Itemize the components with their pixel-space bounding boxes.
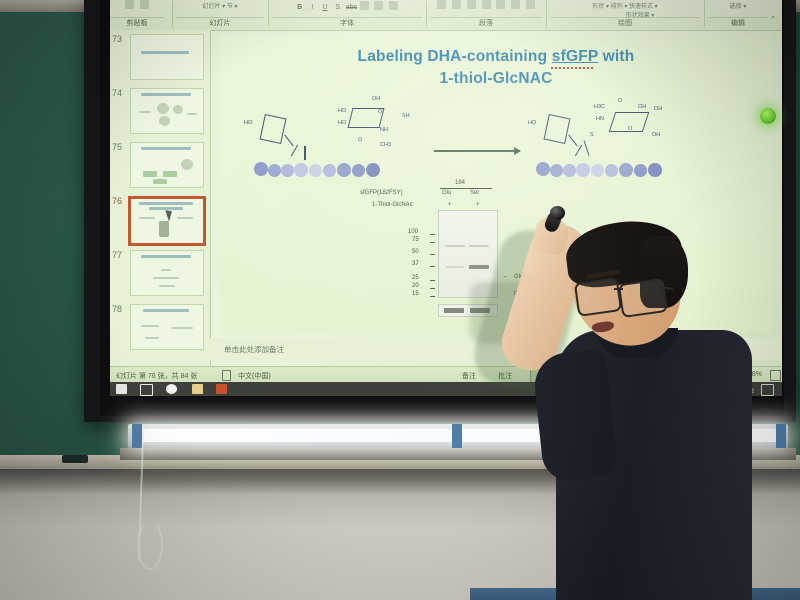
thumb-title-bar bbox=[139, 202, 193, 205]
phenol-ring bbox=[544, 114, 571, 144]
thumb-figure bbox=[159, 116, 170, 126]
band-arrow-icon: ← bbox=[502, 273, 509, 280]
light-clip bbox=[452, 424, 462, 448]
bold-button[interactable]: B bbox=[295, 0, 304, 17]
blot-membrane-his bbox=[438, 304, 498, 317]
ribbon-group-clipboard[interactable]: 剪贴板 bbox=[110, 0, 164, 30]
blot-band bbox=[444, 308, 464, 313]
title-part-c: with bbox=[598, 48, 634, 65]
blot-reagent-plus-1: + bbox=[448, 202, 452, 208]
select-button[interactable]: 选择 ▾ bbox=[708, 0, 768, 17]
reagent-sh: SH bbox=[402, 113, 410, 119]
product-oh-1: OH bbox=[638, 104, 646, 110]
mw-marker-100: 100 bbox=[408, 229, 660, 235]
bond bbox=[291, 145, 298, 157]
zoom-slider-track[interactable] bbox=[670, 375, 730, 377]
peptide-bead bbox=[366, 163, 380, 177]
convert-smartart-icon[interactable] bbox=[526, 0, 535, 9]
align-left-icon[interactable] bbox=[437, 0, 446, 9]
pyranose-ring bbox=[609, 112, 649, 132]
zoom-in-button[interactable]: + bbox=[734, 370, 739, 380]
thumb-title-bar bbox=[141, 51, 189, 54]
slide-editing-area[interactable]: Labeling DHA-containing sfGFP with 1-thi… bbox=[210, 30, 782, 338]
substrate-oh-label: HO bbox=[244, 120, 252, 126]
reaction-arrow bbox=[434, 150, 520, 152]
peptide-bead bbox=[550, 164, 563, 177]
alkene-bond bbox=[304, 146, 306, 160]
arrange-label[interactable]: 排列 ▾ bbox=[611, 4, 628, 10]
ribbon-group-paragraph-items[interactable] bbox=[430, 0, 542, 17]
status-language[interactable]: 中文(中国) bbox=[238, 371, 271, 381]
thumbnail-number-75: 75 bbox=[112, 142, 122, 152]
reagent-ho-2: HO bbox=[338, 120, 346, 126]
board-ledge bbox=[120, 448, 796, 460]
blot-header-rule bbox=[440, 188, 492, 189]
ppt-ribbon: 剪贴板 幻灯片 ▾ 节 ▾ 幻灯片 B I U S abc bbox=[110, 0, 782, 31]
thumbnail-number-76: 76 bbox=[112, 196, 122, 206]
thumb-line bbox=[153, 277, 179, 279]
comments-button[interactable]: 批注 bbox=[498, 371, 512, 381]
reagent-ho-1: HO bbox=[338, 108, 346, 114]
wall-shadow bbox=[0, 469, 800, 495]
reagent-ch3: CH3 bbox=[380, 142, 391, 148]
slide-title-line-2: 1-thiol-GlcNAC bbox=[220, 70, 772, 88]
ribbon-group-clipboard-label: 剪贴板 bbox=[110, 17, 164, 30]
bond bbox=[568, 135, 577, 147]
slide-thumbnail-75[interactable] bbox=[130, 142, 204, 188]
zoom-slider-handle[interactable] bbox=[710, 371, 713, 381]
light-clip bbox=[776, 424, 786, 448]
thumbnail-number-74: 74 bbox=[112, 88, 122, 98]
reagent-nh: NH bbox=[380, 127, 388, 133]
ribbon-group-font-label: 字体 bbox=[272, 17, 422, 30]
windows-taskbar[interactable]: 14:42 2019/5/22 bbox=[110, 382, 782, 396]
underline-button[interactable]: U bbox=[320, 0, 329, 17]
thumb-line bbox=[171, 327, 193, 329]
mw-tick bbox=[430, 288, 435, 289]
reagent-oh-top: OH bbox=[372, 96, 380, 102]
blot-lane-header-ser: Ser bbox=[470, 190, 479, 196]
product-carbonyl-o: O bbox=[618, 98, 622, 104]
thumb-figure bbox=[157, 103, 169, 114]
notification-icon[interactable] bbox=[761, 384, 774, 396]
thumbnail-number-77: 77 bbox=[112, 250, 122, 260]
taskbar-clock[interactable]: 14:42 2019/5/22 bbox=[727, 382, 754, 396]
peptide-bead bbox=[634, 164, 647, 177]
mw-tick bbox=[430, 280, 435, 281]
strikethrough-button[interactable]: abc bbox=[346, 0, 355, 17]
ribbon-group-font[interactable]: B I U S abc 字体 bbox=[272, 0, 422, 30]
slide-thumbnail-panel[interactable]: 73 74 75 76 bbox=[110, 30, 211, 370]
product-hn: HN bbox=[596, 116, 604, 122]
western-blot-figure: sfGFP(182FSY) 1-Thiol-GlcNAc 184 Glu Ser… bbox=[360, 186, 660, 326]
title-part-sfgfp: sfGFP bbox=[552, 48, 598, 65]
italic-button[interactable]: I bbox=[308, 0, 317, 17]
peptide-bead bbox=[619, 163, 633, 177]
band-annotation-label: GlcNAc labeled sfGFP bbox=[514, 274, 574, 280]
product-oh-2: OH bbox=[654, 106, 662, 112]
new-slide-label[interactable]: 幻灯片 ▾ bbox=[202, 4, 225, 10]
blot-band bbox=[445, 245, 465, 247]
product-oh-3: OH bbox=[652, 132, 660, 138]
floor-strip bbox=[470, 588, 800, 600]
bond bbox=[584, 140, 590, 156]
projected-powerpoint-window: 剪贴板 幻灯片 ▾ 节 ▾ 幻灯片 B I U S abc bbox=[110, 0, 782, 396]
ribbon-group-slides[interactable]: 幻灯片 ▾ 节 ▾ 幻灯片 bbox=[176, 0, 264, 30]
title-part-a: Labeling DHA-containing bbox=[358, 48, 552, 65]
windows-start-icon[interactable] bbox=[116, 384, 127, 394]
blot-reagent-plus-2: + bbox=[476, 202, 480, 208]
thumb-line bbox=[139, 111, 151, 113]
slide-thumbnail-77[interactable] bbox=[130, 250, 204, 296]
thumb-line bbox=[139, 217, 155, 219]
thumb-figure bbox=[181, 159, 193, 170]
blot-label-glcnac: IB: GlcNAc bbox=[514, 291, 543, 297]
clock-date: 2019/5/22 bbox=[727, 389, 754, 396]
mw-tick bbox=[430, 242, 435, 243]
status-bar: 幻灯片 第 76 张，共 84 张 中文(中国) 备注 批注 + 68% bbox=[110, 366, 782, 383]
slide-thumbnail-73[interactable] bbox=[130, 34, 204, 80]
blot-label-his: IB: His bbox=[514, 306, 532, 312]
peptide-bead bbox=[268, 164, 281, 177]
mw-marker-50: 50 bbox=[412, 249, 660, 255]
reagent-carbonyl-o: O bbox=[358, 137, 362, 143]
thumbnail-number-73: 73 bbox=[112, 34, 122, 44]
bond bbox=[575, 145, 582, 157]
fit-to-window-icon[interactable] bbox=[770, 370, 781, 381]
align-center-icon[interactable] bbox=[452, 0, 461, 9]
file-explorer-icon[interactable] bbox=[192, 384, 203, 394]
product-h3c: H3C bbox=[594, 104, 605, 110]
laser-pointer-dot bbox=[760, 108, 776, 124]
product-thioether-s: S bbox=[590, 132, 594, 138]
mw-marker-75: 75 bbox=[412, 237, 660, 243]
thumb-line bbox=[145, 337, 159, 339]
blot-band bbox=[469, 245, 489, 247]
paste-icon[interactable] bbox=[125, 0, 134, 9]
task-view-icon[interactable] bbox=[140, 384, 153, 396]
mw-tick bbox=[430, 296, 435, 297]
thumb-line bbox=[159, 285, 175, 287]
format-painter-icon[interactable] bbox=[140, 0, 149, 9]
peptide-bead bbox=[536, 162, 550, 176]
status-slide-count: 幻灯片 第 76 张，共 84 张 bbox=[116, 371, 197, 381]
spellcheck-squiggle bbox=[551, 67, 594, 69]
thumb-box bbox=[163, 171, 177, 177]
change-case-icon[interactable] bbox=[374, 1, 383, 10]
ribbon-group-slides-items[interactable]: 幻灯片 ▾ 节 ▾ bbox=[176, 0, 264, 17]
ribbon-divider bbox=[546, 1, 547, 27]
peptide-bead bbox=[323, 164, 336, 177]
shadow-button[interactable]: S bbox=[333, 0, 342, 17]
ribbon-divider bbox=[268, 1, 269, 27]
section-label[interactable]: 节 ▾ bbox=[227, 4, 238, 10]
blot-sample-label: sfGFP(182FSY) bbox=[360, 190, 403, 196]
thumbnail-number-78: 78 bbox=[112, 304, 122, 314]
clock-time: 14:42 bbox=[727, 382, 754, 389]
blot-position-label: 184 bbox=[455, 180, 465, 186]
peptide-bead bbox=[563, 164, 576, 177]
thumb-title-bar bbox=[141, 93, 191, 96]
blot-band bbox=[470, 308, 490, 313]
character-spacing-icon[interactable] bbox=[360, 1, 369, 10]
ribbon-group-paragraph[interactable]: 段落 bbox=[430, 0, 542, 30]
reaction-scheme: HO OH HO HO bbox=[238, 96, 758, 182]
blot-reagent-label: 1-Thiol-GlcNAc bbox=[372, 202, 413, 208]
shape-effects-row[interactable]: 形状效果 ▾ bbox=[580, 11, 700, 21]
sogou-ime-icon[interactable] bbox=[166, 384, 177, 394]
peptide-bead bbox=[591, 164, 604, 177]
powerpoint-icon[interactable] bbox=[216, 384, 227, 394]
thumb-line bbox=[141, 325, 159, 327]
lecture-hall-photo: 剪贴板 幻灯片 ▾ 节 ▾ 幻灯片 B I U S abc bbox=[0, 0, 800, 600]
ribbon-divider bbox=[172, 1, 173, 27]
thumb-line bbox=[177, 217, 193, 219]
current-slide[interactable]: Labeling DHA-containing sfGFP with 1-thi… bbox=[220, 34, 772, 334]
product-ho-label: HO bbox=[528, 120, 536, 126]
pyranose-ring bbox=[348, 108, 385, 128]
thumb-gel bbox=[159, 221, 169, 237]
text-direction-icon[interactable] bbox=[511, 0, 520, 9]
mouse-cursor-icon bbox=[165, 208, 174, 221]
peptide-bead bbox=[352, 164, 365, 177]
thumb-title-bar bbox=[141, 255, 191, 258]
view-buttons[interactable] bbox=[530, 369, 548, 383]
ribbon-divider bbox=[704, 1, 705, 27]
ime-icon[interactable] bbox=[222, 370, 231, 381]
mw-marker-20: 20 bbox=[412, 283, 660, 289]
justify-icon[interactable] bbox=[482, 0, 491, 9]
peptide-bead bbox=[254, 162, 268, 176]
shapes-label[interactable]: 形状 ▾ bbox=[592, 4, 609, 10]
peptide-bead bbox=[576, 163, 590, 177]
ribbon-group-font-items[interactable]: B I U S abc bbox=[272, 0, 422, 17]
slide-title-line-1: Labeling DHA-containing sfGFP with bbox=[220, 48, 772, 66]
slide-thumbnail-76-selected[interactable] bbox=[128, 196, 206, 246]
ribbon-group-clipboard-items[interactable] bbox=[110, 0, 164, 17]
shape-effects-label[interactable]: 形状效果 ▾ bbox=[580, 11, 700, 21]
bond bbox=[284, 135, 293, 147]
peptide-bead bbox=[605, 164, 618, 177]
mw-marker-37: 37 bbox=[412, 261, 660, 267]
columns-icon[interactable] bbox=[496, 0, 505, 9]
peptide-bead bbox=[294, 163, 308, 177]
zoom-percent-label[interactable]: 68% bbox=[748, 371, 762, 378]
thumb-line bbox=[161, 269, 171, 271]
ribbon-group-slides-label: 幻灯片 bbox=[176, 17, 264, 30]
ribbon-group-paragraph-label: 段落 bbox=[430, 17, 542, 30]
hanging-cable-loop bbox=[137, 520, 163, 570]
light-clip bbox=[132, 424, 142, 448]
font-color-icon[interactable] bbox=[389, 1, 398, 10]
blot-lane-header-glu: Glu bbox=[442, 190, 451, 196]
thumb-title-bar bbox=[141, 147, 191, 150]
ribbon-group-editing-label: 编辑 bbox=[708, 17, 768, 30]
ribbon-divider bbox=[426, 1, 427, 27]
peptide-bead bbox=[648, 163, 662, 177]
notes-pane[interactable]: 单击此处添加备注 bbox=[210, 338, 782, 360]
notes-button[interactable]: 备注 bbox=[462, 371, 476, 381]
thumb-title-bar bbox=[143, 309, 189, 312]
peptide-bead bbox=[281, 164, 294, 177]
chalk-eraser bbox=[62, 455, 88, 463]
phenol-ring bbox=[260, 114, 287, 144]
slide-thumbnail-78[interactable] bbox=[130, 304, 204, 350]
peptide-bead bbox=[309, 164, 322, 177]
mw-tick bbox=[430, 254, 435, 255]
thumb-box bbox=[153, 179, 167, 184]
quick-styles-label[interactable]: 快速样式 ▾ bbox=[629, 4, 658, 10]
collapse-ribbon-chevron-up-icon[interactable]: ^ bbox=[766, 16, 780, 28]
thumb-box bbox=[143, 171, 157, 177]
slide-thumbnail-74[interactable] bbox=[130, 88, 204, 134]
thumb-line bbox=[187, 113, 197, 115]
ribbon-group-editing[interactable]: 选择 ▾ 编辑 bbox=[708, 0, 768, 30]
mw-tick bbox=[430, 266, 435, 267]
mw-tick bbox=[430, 234, 435, 235]
align-right-icon[interactable] bbox=[467, 0, 476, 9]
peptide-bead bbox=[337, 163, 351, 177]
thumb-figure bbox=[173, 105, 183, 114]
